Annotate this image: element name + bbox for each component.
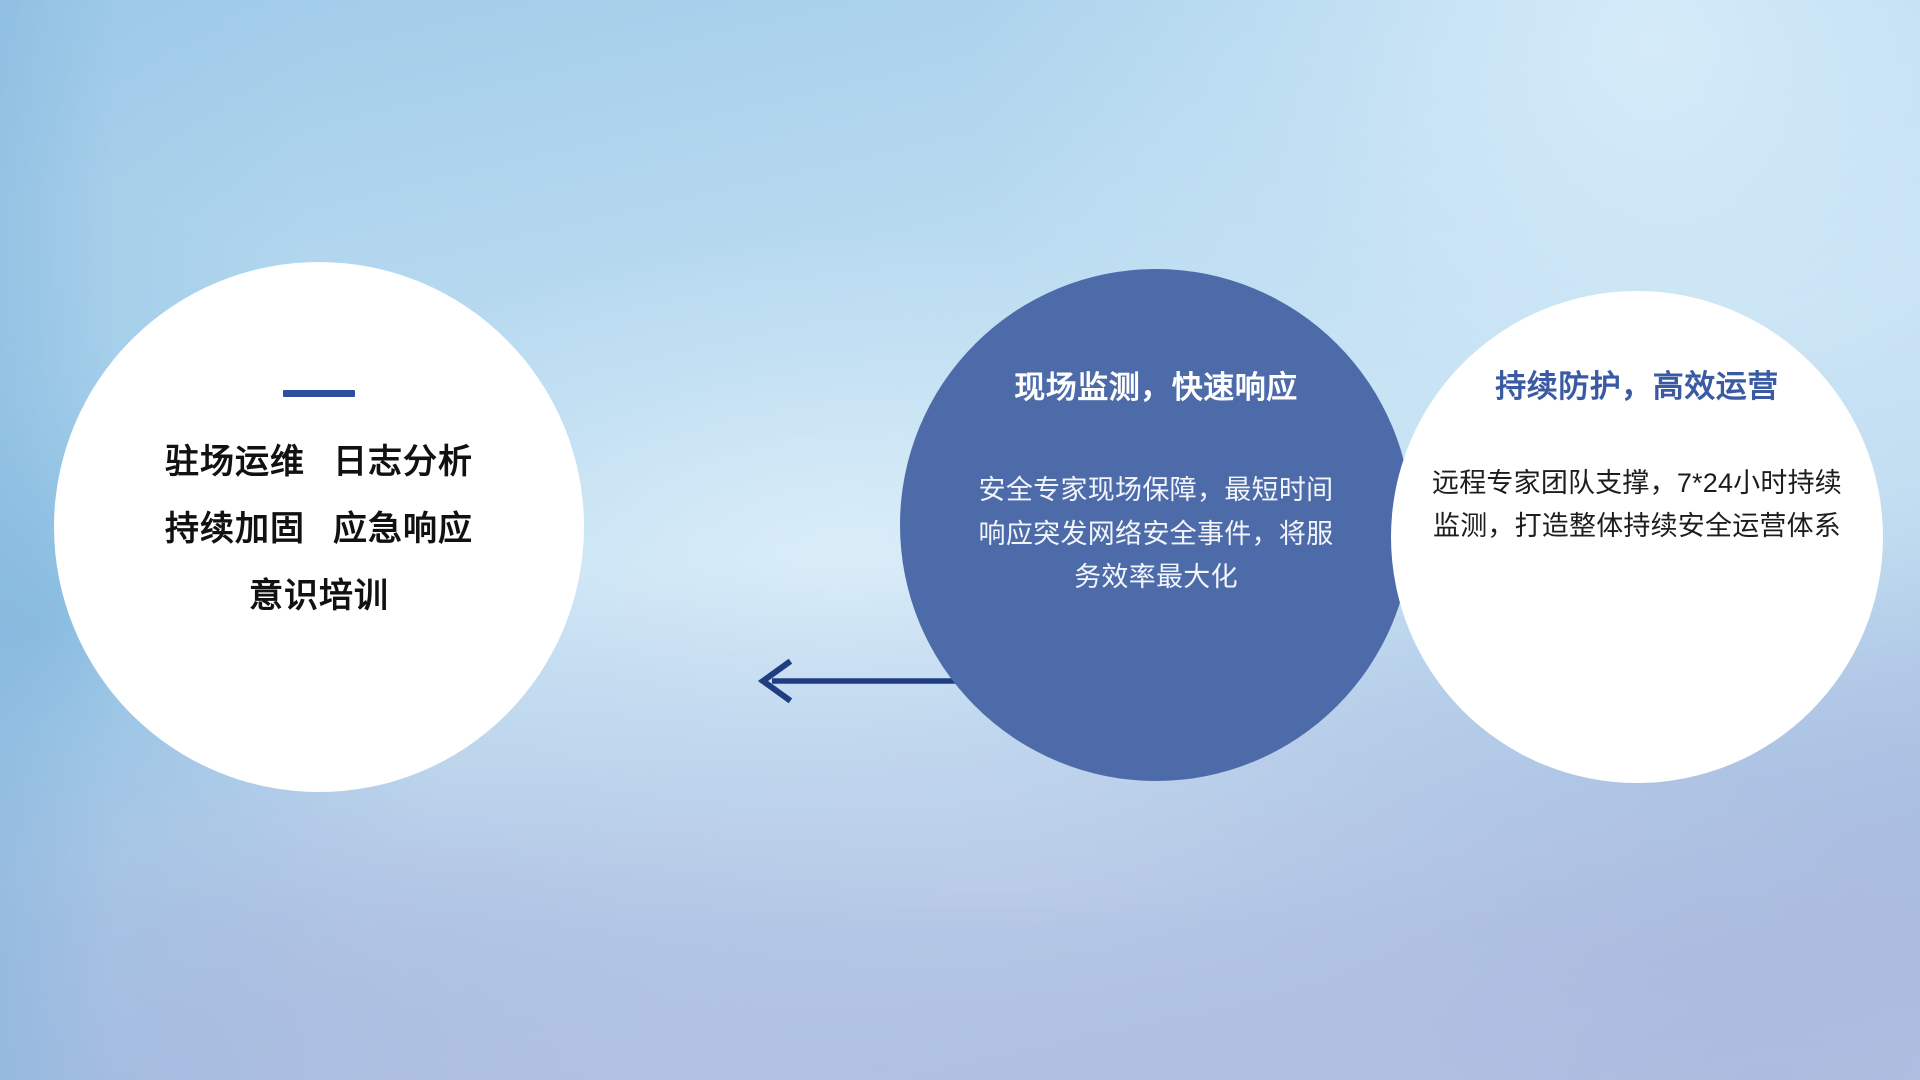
accent-divider-dash (283, 390, 355, 397)
capabilities-content: 驻场运维日志分析 持续加固应急响应 意识培训 (104, 390, 534, 615)
onsite-monitoring-title: 现场监测，快速响应 (959, 362, 1353, 407)
onsite-monitoring-circle[interactable]: 现场监测，快速响应 安全专家现场保障，最短时间响应突发网络安全事件，将服务效率最… (900, 269, 1412, 781)
continuous-protection-title: 持续防护，高效运营 (1422, 361, 1852, 406)
capability-row-2: 持续加固应急响应 (104, 510, 534, 548)
capability-item-awareness-training: 意识培训 (249, 577, 389, 615)
capability-item-incident-response: 应急响应 (333, 510, 473, 548)
capability-item-onsite-ops: 驻场运维 (165, 443, 305, 481)
capability-item-hardening: 持续加固 (165, 510, 305, 548)
capability-row-3: 意识培训 (104, 577, 534, 615)
capabilities-circle[interactable]: 驻场运维日志分析 持续加固应急响应 意识培训 (54, 262, 584, 792)
continuous-protection-content: 持续防护，高效运营 远程专家团队支撑，7*24小时持续监测，打造整体持续安全运营… (1422, 361, 1852, 547)
continuous-protection-body: 远程专家团队支撑，7*24小时持续监测，打造整体持续安全运营体系 (1422, 462, 1852, 547)
capability-item-log-analysis: 日志分析 (333, 443, 473, 481)
capability-row-1: 驻场运维日志分析 (104, 443, 534, 481)
continuous-protection-circle[interactable]: 持续防护，高效运营 远程专家团队支撑，7*24小时持续监测，打造整体持续安全运营… (1391, 291, 1883, 783)
onsite-monitoring-content: 现场监测，快速响应 安全专家现场保障，最短时间响应突发网络安全事件，将服务效率最… (959, 362, 1353, 600)
slide-canvas: 驻场运维日志分析 持续加固应急响应 意识培训 现场监测，快速响应 安全专家现场保… (0, 0, 1920, 1080)
onsite-monitoring-body: 安全专家现场保障，最短时间响应突发网络安全事件，将服务效率最大化 (959, 469, 1353, 600)
